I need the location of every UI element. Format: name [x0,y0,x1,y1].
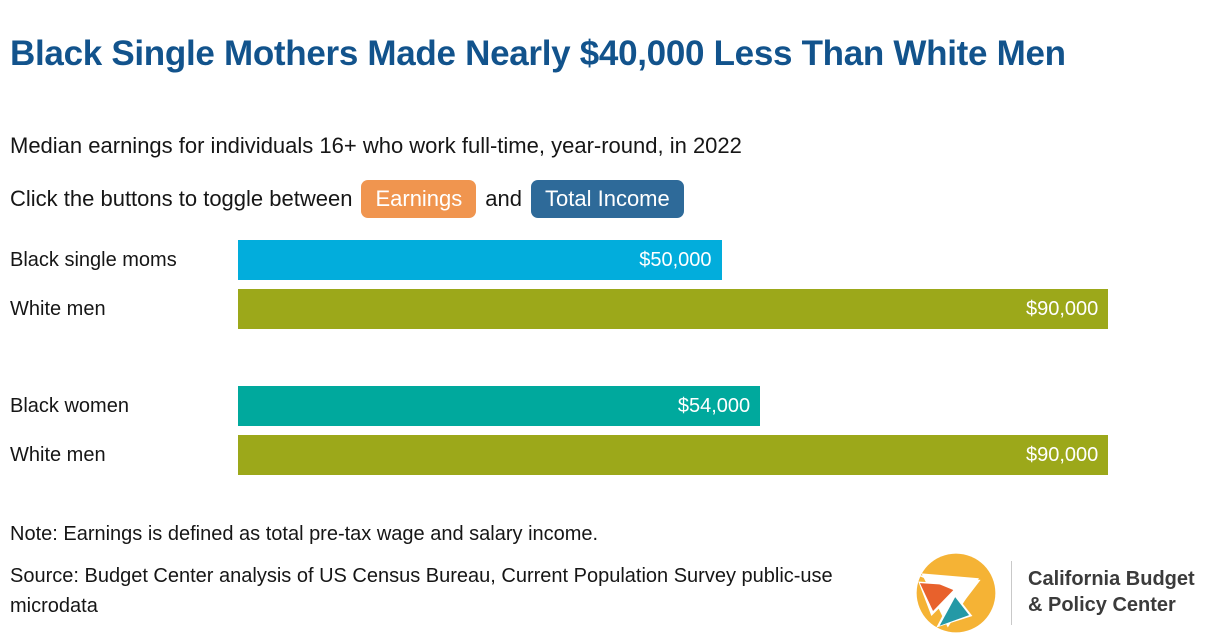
toggle-conjunction: and [485,180,522,218]
bar-black-single-moms[interactable]: $50,000 [238,240,722,280]
bar-track: $54,000 [238,386,1206,426]
toggle-instruction-text: Click the buttons to toggle between [10,180,352,218]
page-title: Black Single Mothers Made Nearly $40,000… [10,33,1200,76]
bar-track: $90,000 [238,435,1206,475]
bar-category-label: Black single moms [10,240,225,280]
toggle-button-earnings[interactable]: Earnings [361,180,476,218]
toggle-instruction-row: Click the buttons to toggle between Earn… [10,180,693,218]
logo-divider [1011,561,1012,625]
organization-logo: California Budget & Policy Center [915,549,1215,637]
bar-group-2: Black women $54,000 White men $90,000 [0,386,1220,475]
chart-subtitle: Median earnings for individuals 16+ who … [10,133,742,159]
bar-white-men-group1[interactable]: $90,000 [238,289,1108,329]
group-spacer [0,338,1220,386]
chart-note: Note: Earnings is defined as total pre-t… [10,521,598,547]
bar-chart: Black single moms $50,000 White men $90,… [0,240,1220,500]
bar-row: White men $90,000 [0,289,1220,329]
bar-track: $50,000 [238,240,1206,280]
bar-track: $90,000 [238,289,1206,329]
pie-chart-logo-icon [915,552,997,634]
chart-page: Black Single Mothers Made Nearly $40,000… [0,0,1220,642]
bar-category-label: Black women [10,386,225,426]
bar-row: White men $90,000 [0,435,1220,475]
bar-value-label: $50,000 [639,249,721,272]
bar-category-label: White men [10,435,225,475]
logo-wordmark-line2: & Policy Center [1028,593,1195,619]
bar-value-label: $90,000 [1026,298,1108,321]
logo-wordmark: California Budget & Policy Center [1028,567,1195,618]
bar-row: Black single moms $50,000 [0,240,1220,280]
bar-value-label: $54,000 [678,395,760,418]
bar-category-label: White men [10,289,225,329]
bar-black-women[interactable]: $54,000 [238,386,760,426]
logo-wordmark-line1: California Budget [1028,567,1195,593]
bar-row: Black women $54,000 [0,386,1220,426]
bar-value-label: $90,000 [1026,444,1108,467]
toggle-button-total-income[interactable]: Total Income [531,180,684,218]
bar-group-1: Black single moms $50,000 White men $90,… [0,240,1220,329]
chart-source: Source: Budget Center analysis of US Cen… [10,561,860,621]
bar-white-men-group2[interactable]: $90,000 [238,435,1108,475]
